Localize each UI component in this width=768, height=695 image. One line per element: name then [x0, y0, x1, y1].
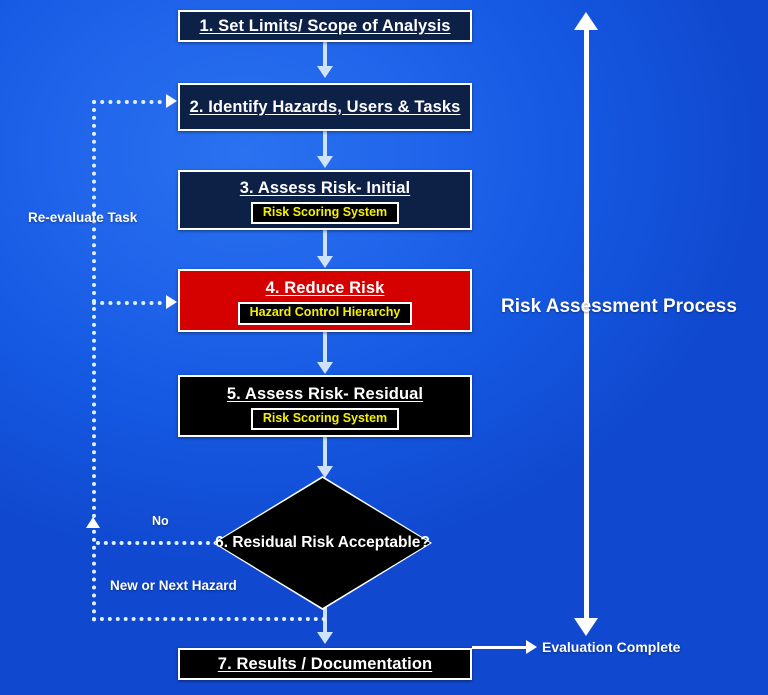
evaluation-complete-label: Evaluation Complete — [542, 639, 680, 655]
connector-5-6-shaft — [323, 437, 327, 469]
connector-2-3-head — [317, 156, 333, 168]
feedback-new-hazard-line — [92, 617, 326, 621]
connector-1-2-shaft — [323, 41, 327, 68]
connector-3-4-shaft — [323, 229, 327, 258]
node-step2-title: 2. Identify Hazards, Users & Tasks — [190, 98, 461, 117]
connector-4-5-shaft — [323, 331, 327, 365]
node-step3-title: 3. Assess Risk- Initial — [240, 179, 410, 198]
node-step7[interactable]: 7. Results / Documentation — [178, 648, 472, 680]
connector-1-2-head — [317, 66, 333, 78]
evaluation-complete-line — [472, 646, 530, 649]
page-title: Risk Assessment Process — [470, 296, 768, 318]
connector-4-5-head — [317, 362, 333, 374]
node-step4[interactable]: 4. Reduce Risk Hazard Control Hierarchy — [178, 269, 472, 332]
feedback-to-step4-line — [92, 301, 170, 305]
feedback-to-step4-arrowhead — [166, 295, 177, 309]
connector-2-3-shaft — [323, 130, 327, 158]
node-step3-subbox[interactable]: Risk Scoring System — [251, 202, 399, 225]
node-step4-title: 4. Reduce Risk — [266, 279, 385, 298]
process-arrow-down-head — [574, 618, 598, 636]
node-step1[interactable]: 1. Set Limits/ Scope of Analysis — [178, 10, 472, 42]
feedback-to-step2-arrowhead — [166, 94, 177, 108]
edge-label-reevaluate-task: Re-evaluate Task — [28, 210, 137, 225]
diagram-canvas: Risk Assessment Process Re-evaluate Task… — [0, 0, 768, 695]
connector-3-4-head — [317, 256, 333, 268]
connector-6-7-head — [317, 632, 333, 644]
process-arrow-shaft — [584, 26, 589, 626]
node-step6-decision[interactable]: 6. Residual Risk Acceptable? — [215, 478, 430, 608]
node-step2[interactable]: 2. Identify Hazards, Users & Tasks — [178, 83, 472, 131]
edge-label-no: No — [152, 514, 169, 528]
node-step6-title: 6. Residual Risk Acceptable? — [215, 478, 430, 608]
node-step3[interactable]: 3. Assess Risk- Initial Risk Scoring Sys… — [178, 170, 472, 230]
node-step7-title: 7. Results / Documentation — [218, 655, 432, 674]
node-step4-subbox[interactable]: Hazard Control Hierarchy — [238, 302, 413, 325]
node-step5[interactable]: 5. Assess Risk- Residual Risk Scoring Sy… — [178, 375, 472, 437]
node-step5-title: 5. Assess Risk- Residual — [227, 385, 423, 404]
connector-5-6-head — [317, 466, 333, 478]
feedback-up-arrowhead — [86, 517, 100, 528]
node-step5-subbox[interactable]: Risk Scoring System — [251, 408, 399, 431]
evaluation-complete-arrowhead — [526, 640, 537, 654]
feedback-no-line — [96, 541, 218, 545]
feedback-to-step2-line — [92, 100, 170, 104]
node-step1-title: 1. Set Limits/ Scope of Analysis — [199, 17, 450, 36]
